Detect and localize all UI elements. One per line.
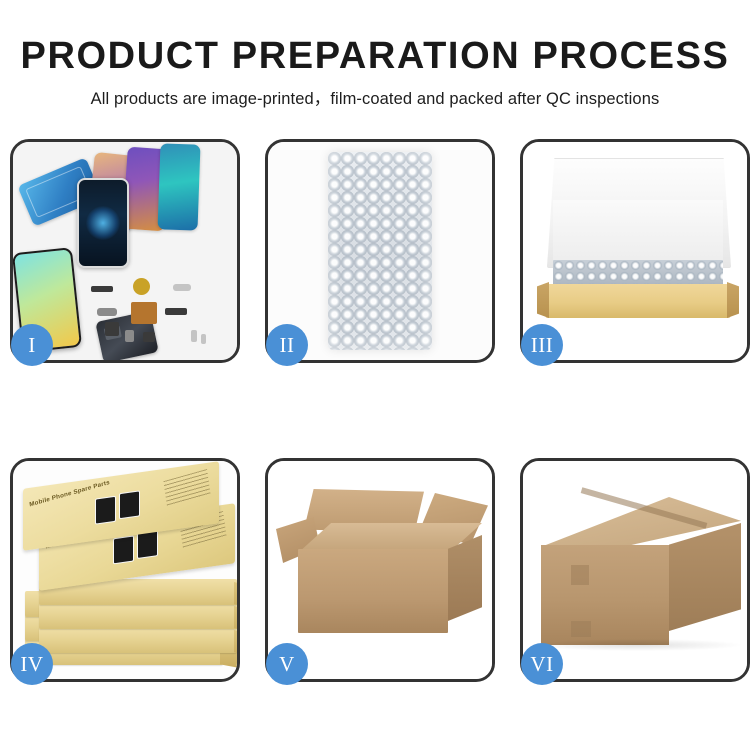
- step-badge-4: IV: [11, 643, 53, 685]
- battery-part-icon: [91, 286, 113, 292]
- box-screen-thumb-icon: [137, 530, 158, 559]
- carton-flap-edge-icon: [571, 565, 589, 585]
- box-screen-thumb-icon: [119, 490, 140, 519]
- step-panel-1: I: [10, 139, 240, 363]
- step-image-open-carton: [268, 461, 492, 679]
- logic-board-part-icon: [131, 302, 157, 324]
- carton-front-icon: [541, 545, 669, 645]
- flex-cable-part-icon: [173, 284, 191, 291]
- speaker-coil-part-icon: [133, 278, 150, 295]
- box-screen-thumb-icon: [113, 535, 134, 564]
- phone-screen-teal-icon: [158, 143, 201, 230]
- kraft-tray-icon: [545, 284, 731, 318]
- step-image-sealed-carton: [523, 461, 747, 679]
- spare-parts-group: [91, 278, 237, 360]
- camera-module-part-icon: [105, 322, 119, 336]
- screw-part-icon: [191, 330, 197, 342]
- step-panel-3: III: [520, 139, 750, 363]
- step-panel-6: VI: [520, 458, 750, 682]
- step-panel-5: V: [265, 458, 495, 682]
- step-badge-3: III: [521, 324, 563, 366]
- screw-part-icon: [201, 334, 206, 344]
- button-part-icon: [125, 330, 134, 342]
- box-stack: Mobile Phone Spare Parts Mobile Phone Sp…: [17, 475, 237, 671]
- steps-grid: I II III: [10, 139, 745, 739]
- step-image-stacked-retail-boxes: Mobile Phone Spare Parts Mobile Phone Sp…: [13, 461, 237, 679]
- foam-insert-icon: [553, 200, 723, 264]
- step-panel-2: II: [265, 139, 495, 363]
- carton-shadow: [535, 639, 741, 651]
- step-badge-1: I: [11, 324, 53, 366]
- bubble-wrap-icon: [328, 152, 432, 350]
- carton-flap-edge-icon: [571, 621, 591, 637]
- carton-front-icon: [298, 549, 448, 633]
- page-title: PRODUCT PREPARATION PROCESS: [0, 0, 750, 78]
- step-badge-2: II: [266, 324, 308, 366]
- product-preparation-infographic: PRODUCT PREPARATION PROCESS All products…: [0, 0, 750, 750]
- bracket-part-icon: [143, 332, 155, 342]
- header: PRODUCT PREPARATION PROCESS All products…: [0, 0, 750, 109]
- step-image-open-retail-box: [523, 142, 747, 360]
- box-spec-lines-icon: [163, 469, 210, 506]
- page-subtitle: All products are image-printed，film-coat…: [0, 78, 750, 109]
- box-screen-thumb-icon: [95, 496, 116, 525]
- step-image-products-and-spare-parts: [13, 142, 237, 360]
- step-badge-6: VI: [521, 643, 563, 685]
- phone-screen-black-icon: [77, 178, 129, 268]
- connector-part-icon: [97, 308, 117, 316]
- carton-side-icon: [448, 535, 482, 621]
- step-image-bubble-wrapped-product: [268, 142, 492, 360]
- ribbon-part-icon: [165, 308, 187, 315]
- step-panel-4: Mobile Phone Spare Parts Mobile Phone Sp…: [10, 458, 240, 682]
- carton-side-icon: [669, 523, 741, 631]
- step-badge-5: V: [266, 643, 308, 685]
